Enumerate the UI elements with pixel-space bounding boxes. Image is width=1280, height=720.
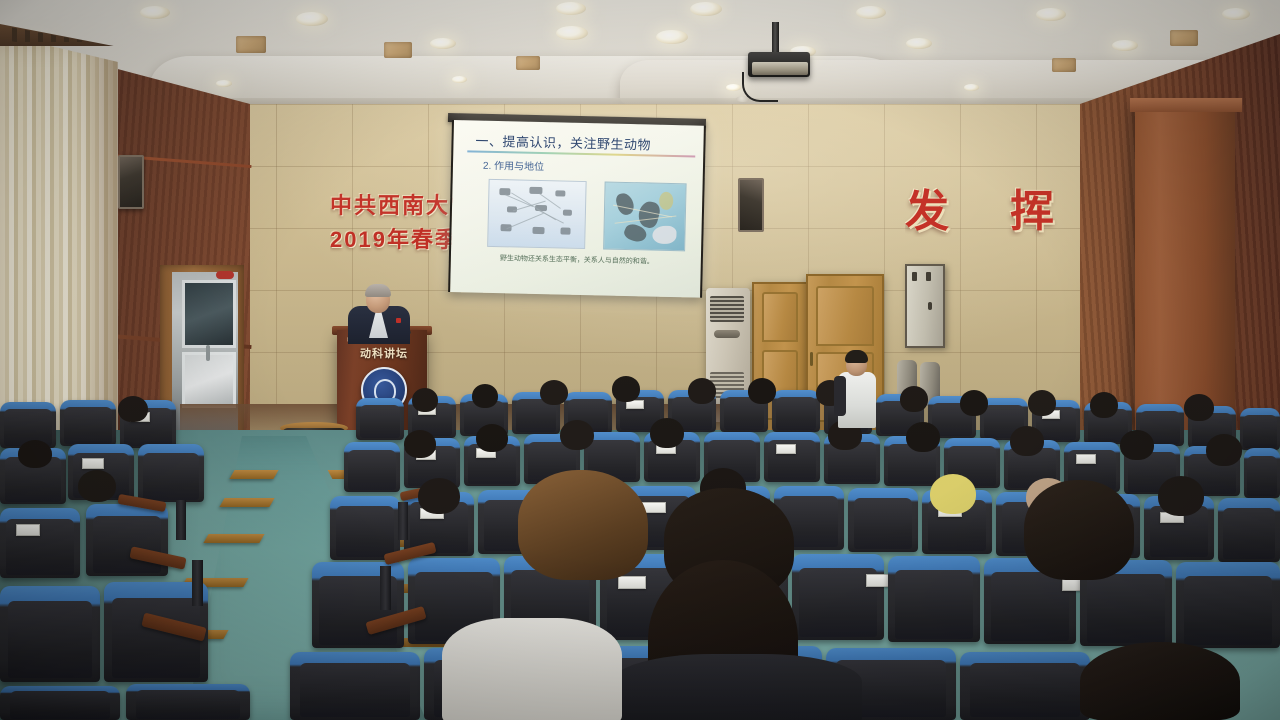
audience-head [1028, 390, 1056, 416]
ac-air-grille-icon [710, 296, 744, 322]
wall-speaker-icon [118, 155, 144, 209]
seat-number-label [82, 458, 104, 469]
seat-support-post [176, 500, 186, 540]
seat[interactable] [888, 556, 980, 642]
seat[interactable] [1176, 562, 1280, 648]
seat[interactable] [126, 684, 250, 720]
seat[interactable] [1244, 448, 1280, 498]
projector-mount-pole [772, 22, 779, 56]
downlight-icon [140, 6, 170, 19]
seat[interactable] [792, 554, 884, 640]
lecture-hall-photo: 中共西南大学动物 2019年春季入党 发 挥 特 色 一、提高认识，关注野生动物… [0, 0, 1280, 720]
slide-image-migration-map [603, 181, 687, 251]
seat-support-post [398, 502, 408, 540]
wooden-door-right-panel-top [816, 286, 874, 346]
seat[interactable] [1240, 408, 1280, 450]
audience-head [1120, 430, 1154, 460]
wall-speaker-icon [738, 178, 764, 232]
downlight-icon [690, 2, 722, 16]
audience-head [518, 470, 648, 580]
seat[interactable] [1218, 498, 1280, 562]
seat-support-post [380, 566, 391, 610]
seat[interactable] [356, 398, 404, 440]
seat-number-label [1076, 454, 1096, 464]
audience-head [1090, 392, 1118, 418]
wooden-door-left-panel-top [762, 292, 798, 342]
seat[interactable] [0, 508, 80, 578]
seat[interactable] [86, 504, 168, 576]
seat[interactable] [344, 442, 400, 492]
aisle-step [229, 470, 278, 479]
ac-brand-badge [714, 330, 740, 338]
seat[interactable] [772, 390, 820, 432]
audience-head [18, 440, 52, 468]
audience-head [560, 420, 594, 450]
downlight-icon [1222, 8, 1250, 20]
downlight-icon [556, 2, 586, 15]
downlight-icon [1036, 8, 1066, 21]
audience-head [118, 396, 148, 422]
downlight-icon [964, 84, 979, 91]
downlight-icon [430, 38, 456, 49]
slide-image-food-web [487, 179, 587, 249]
slide-title: 一、提高认识，关注野生动物 [475, 131, 651, 154]
window-curtain[interactable] [0, 34, 118, 454]
seat[interactable] [330, 496, 400, 560]
seat-number-label [16, 524, 40, 536]
audience-head [1158, 476, 1204, 516]
downlight-icon [452, 76, 467, 83]
seat[interactable] [60, 400, 116, 446]
wooden-door-handle-icon[interactable] [810, 352, 813, 366]
seat-number-label [776, 444, 796, 454]
standing-attendee-hair [845, 350, 868, 363]
downlight-icon [656, 30, 688, 44]
audience-head [906, 422, 940, 452]
presenter-lapel-pin [396, 318, 401, 323]
electrical-panel-latch-icon[interactable] [928, 302, 932, 310]
downlight-icon [556, 26, 588, 40]
ceiling-vent-icon [1170, 30, 1198, 46]
seat-number-label [618, 576, 646, 589]
downlight-icon [856, 6, 886, 19]
electrical-panel-slot [912, 272, 917, 281]
seat[interactable] [290, 652, 420, 720]
audience-head [404, 430, 436, 458]
electrical-panel[interactable] [905, 264, 945, 348]
audience-head [930, 474, 976, 514]
door-glass-upper [182, 280, 236, 348]
standing-attendee-bag [834, 376, 846, 416]
downlight-icon [906, 38, 932, 49]
seat[interactable] [764, 432, 820, 482]
audience-head [1024, 480, 1134, 580]
red-object-behind-door [216, 271, 234, 279]
door-handle-icon[interactable] [206, 345, 210, 361]
ceiling-vent-icon [516, 56, 540, 70]
audience-head [1080, 642, 1240, 720]
audience-shoulders [442, 618, 622, 720]
audience-head [540, 380, 568, 405]
audience-head [650, 418, 684, 448]
audience-head [418, 478, 460, 514]
aisle-step [219, 498, 274, 507]
audience-head [612, 376, 640, 402]
audience-head [476, 424, 508, 452]
seat[interactable] [0, 586, 100, 682]
motto-char-1: 发 [905, 175, 949, 237]
audience-head [78, 470, 116, 502]
audience-head [960, 390, 988, 416]
pilaster-cap [1130, 98, 1242, 112]
seat[interactable] [960, 652, 1090, 720]
slide-caption: 野生动物还关系生态平衡，关系人与自然的和谐。 [469, 252, 685, 267]
downlight-icon [296, 12, 328, 26]
audience-head [748, 378, 776, 404]
motto-char-2: 挥 [1010, 175, 1054, 237]
audience-head [900, 386, 928, 412]
audience-head [1206, 434, 1242, 466]
ceiling-vent-icon [384, 42, 412, 58]
aisle-step [203, 534, 264, 543]
projection-screen: 一、提高认识，关注野生动物 2. 作用与地位 [448, 120, 706, 298]
audience-head [1010, 426, 1044, 456]
downlight-icon [216, 80, 232, 87]
seat-support-post [192, 560, 203, 606]
audience-head [688, 378, 716, 404]
electrical-panel-slot [926, 272, 931, 281]
downlight-icon [726, 84, 741, 91]
audience-head [472, 384, 498, 408]
seat[interactable] [848, 488, 918, 552]
wall-pilaster [1135, 104, 1235, 434]
audience-head [1184, 394, 1214, 421]
slide-subtitle: 2. 作用与地位 [483, 157, 544, 173]
ceiling-vent-icon [236, 36, 266, 53]
podium-forum-name: 动科讲坛 [349, 345, 419, 361]
seat[interactable] [0, 686, 120, 720]
downlight-icon [1112, 40, 1138, 51]
audience-head [412, 388, 438, 412]
seat[interactable] [138, 444, 204, 502]
projector-cable [742, 72, 778, 102]
presenter-hair [365, 284, 391, 297]
audience-shoulders [612, 654, 862, 720]
ceiling-vent-icon [1052, 58, 1076, 72]
